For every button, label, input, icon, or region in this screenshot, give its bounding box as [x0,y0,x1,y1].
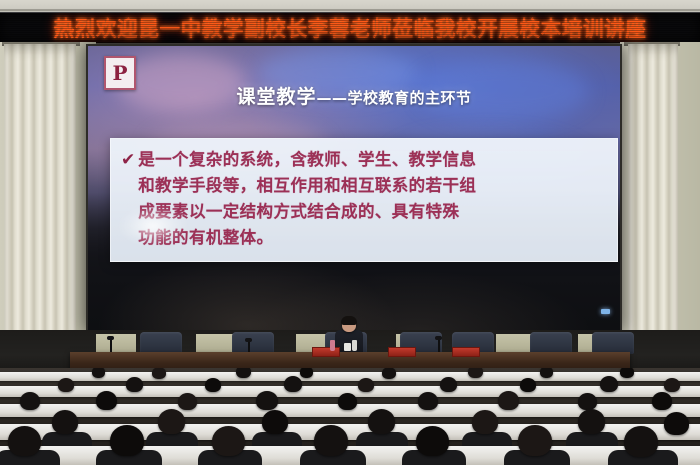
microphone-head [245,338,252,342]
seat-row [0,372,700,381]
led-banner-text: 热烈欢迎昆一中教学副校长李蓉老师莅临我校开展校本培训讲座 [54,13,647,43]
audience-head [468,368,483,378]
right-curtain [628,44,678,374]
left-curtain [4,44,76,374]
slide-title-dash: —— [317,89,348,107]
audience-head [178,393,197,410]
microphone-stand [110,338,112,352]
slide-title-sub: 学校教育的主环节 [348,89,472,107]
body-line: 成要素以一定结构方式结合成的、具有特殊 [138,199,476,225]
audience-head [358,378,374,392]
audience-head [314,425,348,456]
audience-head [96,391,117,410]
lecture-hall-photo: 热烈欢迎昆一中教学副校长李蓉老师莅临我校开展校本培训讲座 P 课堂教学——学校教… [0,0,700,465]
audience-head [212,426,245,456]
ceiling-seam [0,9,700,11]
projection-screen: P 课堂教学——学校教育的主环节 ✔ 是一个复杂的系统，含教师、学生、教学信息 … [86,44,622,334]
logo-letter: P [112,63,127,83]
audience-head [256,391,278,410]
bullet-item: ✔ 是一个复杂的系统，含教师、学生、教学信息 和教学手段等，相互作用和相互联系的… [121,147,607,251]
audience-head [158,409,185,434]
checkmark-icon: ✔ [121,147,135,173]
slide-canvas: P 课堂教学——学校教育的主环节 ✔ 是一个复杂的系统，含教师、学生、教学信息 … [88,46,620,332]
audience-head [418,392,438,410]
audience-head [126,377,143,392]
audience-head [284,376,302,392]
audience-head [110,425,144,456]
audience-head [624,426,658,457]
audience-head [152,368,166,379]
stage-chair [592,332,634,354]
stage-chair [140,332,182,354]
audience-head [52,410,78,434]
stage-chair [530,332,572,354]
audience-head [338,393,357,410]
microphone-head [107,336,114,340]
audience-head [8,426,41,456]
audience-head [540,368,553,378]
audience-head [300,368,313,378]
body-line: 是一个复杂的系统，含教师、学生、教学信息 [138,147,476,173]
microphone-stand [438,338,440,352]
bullet-text-block: 是一个复杂的系统，含教师、学生、教学信息 和教学手段等，相互作用和相互联系的若干… [138,147,476,251]
stage-nameplate [388,347,416,357]
audience-head [664,378,680,392]
stage-nameplate [312,347,340,357]
audience-head [236,368,251,378]
audience-head [652,392,672,410]
audience-head [416,426,449,456]
body-line: 功能的有机整体。 [138,225,476,251]
speaker-hair [341,316,357,325]
led-scrolling-banner: 热烈欢迎昆一中教学副校长李蓉老师莅临我校开展校本培训讲座 [0,12,700,45]
slide-content-box: ✔ 是一个复杂的系统，含教师、学生、教学信息 和教学手段等，相互作用和相互联系的… [110,138,618,262]
paper-cup [344,343,351,351]
audience-head [578,409,605,434]
body-line: 和教学手段等，相互作用和相互联系的若干组 [138,173,476,199]
audience-head [262,410,288,434]
slide-title-main: 课堂教学 [236,86,316,108]
water-bottle [352,340,357,351]
audience-head [58,378,74,392]
audience-area [0,368,700,465]
slide-title: 课堂教学——学校教育的主环节 [88,82,620,109]
audience-head [382,368,396,379]
audience-head [472,410,498,434]
microphone-head [435,336,442,340]
audience-head [205,378,221,392]
audience-head [368,409,395,434]
audience-head [664,412,689,435]
audience-head [620,368,634,378]
audience-head [578,393,597,410]
audience-head [92,368,105,378]
audience-head [600,376,618,392]
audience-head [498,391,519,410]
stage-chair [232,332,274,354]
audience-head [20,392,40,410]
audience-head [520,378,536,392]
screen-indicator-light [601,309,610,314]
audience-head [440,377,457,392]
stage-nameplate [452,347,480,357]
audience-head [518,425,552,456]
water-bottle [330,340,335,351]
